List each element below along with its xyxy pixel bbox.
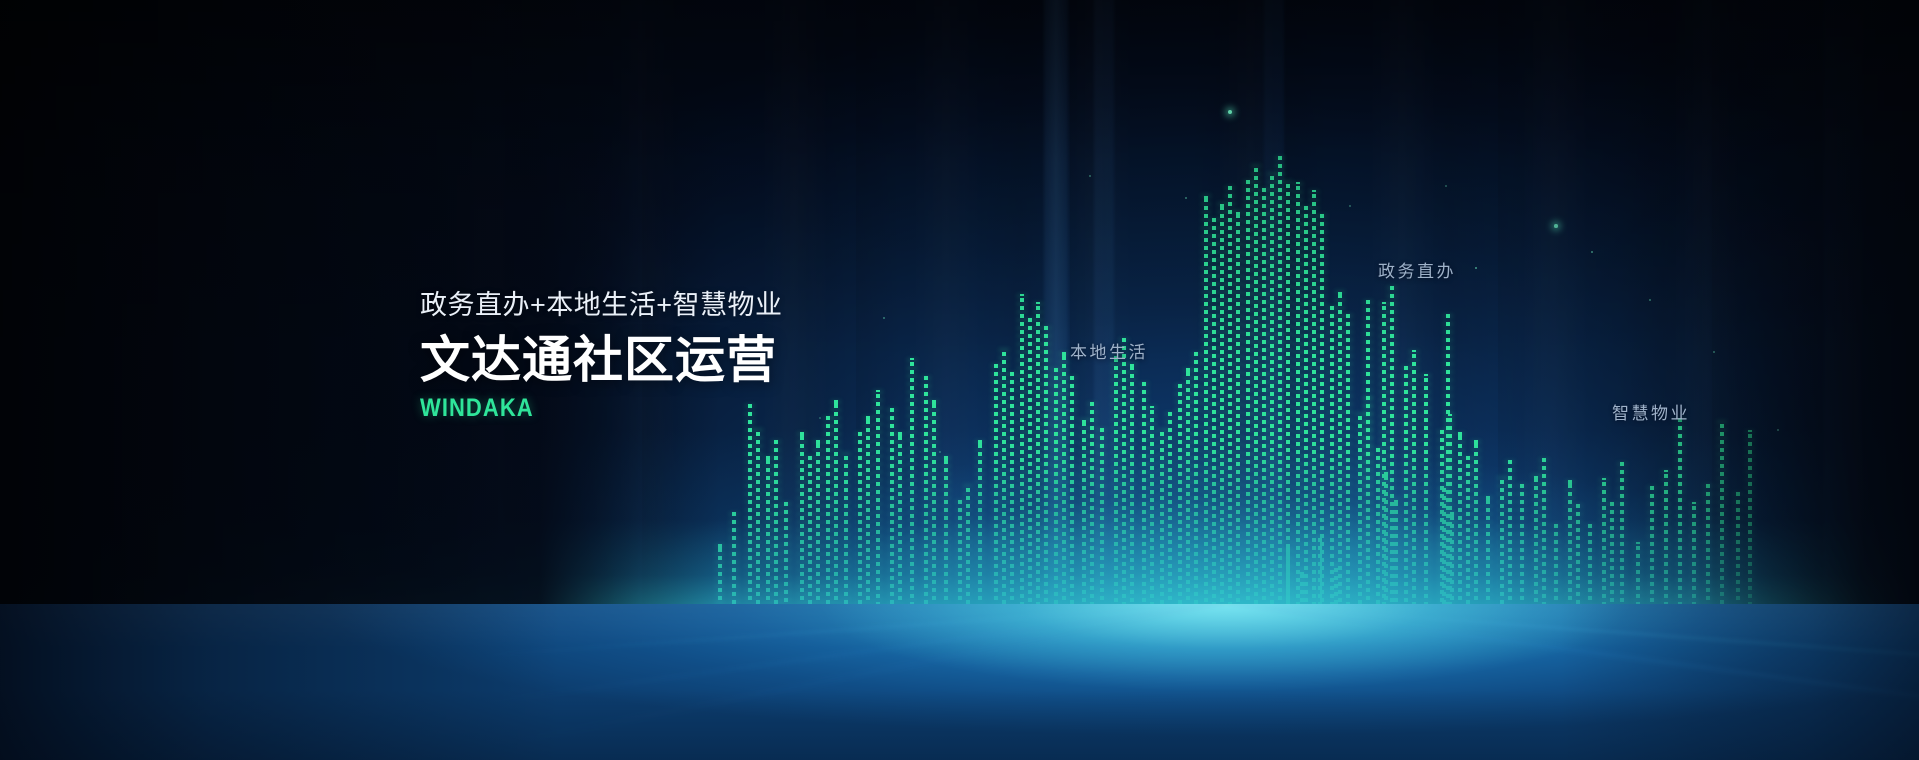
perspective-ray [1225,604,1919,605]
brand-wordmark: WINDAKA [420,396,913,421]
glow-particle [1021,371,1023,373]
glow-particle [1777,429,1779,431]
glow-particle [1591,251,1593,253]
hero-banner: 政务直办 本地生活 智慧物业 政务直办+本地生活+智慧物业 文达通社区运营 WI… [0,0,1919,760]
hero-tagline: 政务直办+本地生活+智慧物业 [420,292,980,319]
perspective-ray [1225,604,1919,605]
perspective-ray [487,604,1225,605]
perspective-ray [491,604,1225,703]
glow-particle [939,451,941,453]
skyline-label-bendi: 本地生活 [1070,338,1148,363]
glow-particle [1445,185,1447,187]
glow-particle [1228,110,1232,114]
perspective-rays [0,604,1919,760]
glow-particle [1554,224,1558,228]
glow-particle [1349,205,1351,207]
glow-particle [1649,299,1651,301]
glow-particle [1185,197,1187,199]
glow-particle [1089,175,1091,177]
perspective-ray [1225,604,1919,605]
ground-plane [0,604,1919,760]
skyline-label-zhihui: 智慧物业 [1612,399,1690,424]
skyline-label-zhengwu: 政务直办 [1378,257,1456,282]
perspective-ray [487,604,1225,657]
glow-particle [1713,351,1715,353]
perspective-ray [498,604,1225,746]
hero-headline: 文达通社区运营 [420,333,980,387]
hero-copy-block: 政务直办+本地生活+智慧物业 文达通社区运营 WINDAKA [420,292,980,421]
glow-particle [1475,267,1478,270]
perspective-ray [490,604,1225,605]
